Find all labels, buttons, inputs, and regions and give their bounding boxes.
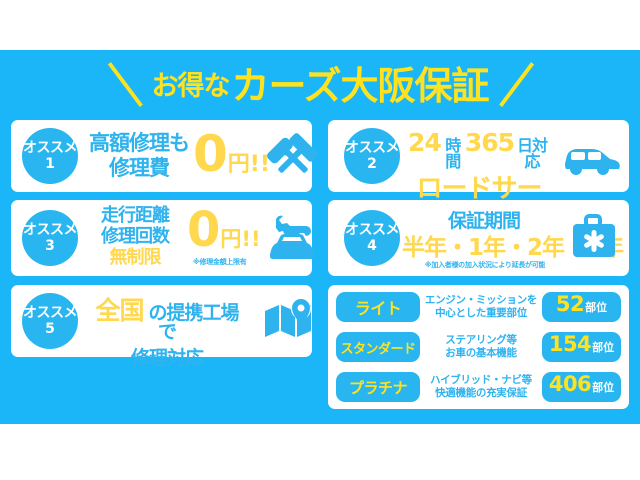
feature-card-2: オススメ 2 24 時間 365 日対応 ロードサービス: [328, 120, 629, 192]
plan-desc-platinum-line2: 快適機能の充実保証: [435, 387, 527, 399]
plan-count-pill-platinum[interactable]: 406 部位: [542, 372, 621, 402]
feature-4-line1: 保証期間: [402, 212, 566, 232]
plan-count-pill-light[interactable]: 52 部位: [542, 292, 621, 322]
feature-card-4: オススメ 4 保証期間 半年・1年・2年・3年 ※加入者様の加入状況により延長が…: [328, 200, 629, 276]
feature-2-days-number: 365: [465, 130, 514, 155]
recommend-badge-4: オススメ 4: [344, 210, 400, 266]
plan-name-pill-platinum[interactable]: プラチナ: [336, 372, 420, 402]
feature-1-line2: 修理費: [85, 157, 193, 179]
badge-label: オススメ: [23, 306, 77, 320]
feature-5-line2: 修理対応: [87, 349, 247, 368]
plan-desc-standard-line1: ステアリング等: [445, 334, 516, 346]
plan-row-standard[interactable]: スタンダード ステアリング等 お車の基本機能 154 部位: [336, 330, 621, 364]
plan-count-unit-light: 部位: [585, 299, 607, 315]
feature-4-text: 保証期間 半年・1年・2年・3年: [402, 212, 566, 260]
plan-table-card: ライト エンジン・ミッションを 中心とした重要部位 52 部位 スタンダード ス…: [328, 285, 629, 409]
badge-number: 3: [45, 239, 55, 253]
plan-desc-light: エンジン・ミッションを 中心とした重要部位: [420, 294, 542, 320]
plan-desc-platinum-line1: ハイブリッド・ナビ等: [430, 374, 532, 386]
feature-3-price-number: 0: [187, 206, 220, 254]
feature-5-nationwide: 全国: [95, 296, 143, 325]
feature-4-line2: 半年・1年・2年・3年: [402, 236, 566, 260]
page-title: ＼ お得な カーズ大阪保証 ／: [0, 58, 640, 114]
badge-number: 4: [367, 239, 377, 253]
feature-2-line1: 24 時間 365 日対応: [408, 130, 550, 170]
plan-desc-platinum: ハイブリッド・ナビ等 快適機能の充実保証: [420, 374, 542, 400]
plan-count-unit-platinum: 部位: [592, 379, 614, 395]
feature-card-3: オススメ 3 走行距離 修理回数 無制限 0 円!! ※修理金額上限有: [11, 200, 312, 276]
badge-label: オススメ: [23, 223, 77, 237]
plan-name-pill-light[interactable]: ライト: [336, 292, 420, 322]
feature-3-line1: 走行距離: [87, 207, 183, 226]
feature-3-price-unit: 円!!: [220, 223, 260, 253]
slash-left-decoration: ＼: [97, 63, 152, 109]
toolbox-asterisk-icon: [568, 210, 620, 268]
feature-1-line1: 高額修理も: [85, 132, 193, 154]
car-side-icon: [558, 136, 620, 182]
recommend-badge-3: オススメ 3: [22, 210, 78, 266]
feature-5-text: 全国 の提携工場で 修理対応: [87, 298, 247, 368]
plan-count-light: 52: [556, 292, 584, 316]
badge-label: オススメ: [345, 141, 399, 155]
feature-3-note: ※修理金額上限有: [193, 257, 246, 267]
plan-count-pill-standard[interactable]: 154 部位: [542, 332, 621, 362]
warranty-poster: ＼ お得な カーズ大阪保証 ／ オススメ 1 高額修理も 修理費 0 円!!: [0, 0, 640, 480]
title-main: カーズ大阪保証: [231, 67, 488, 105]
plan-desc-standard-line2: お車の基本機能: [445, 347, 516, 359]
badge-number: 5: [45, 322, 55, 336]
feature-5-line1: 全国 の提携工場で: [87, 298, 247, 342]
slash-right-decoration: ／: [488, 63, 543, 109]
badge-label: オススメ: [23, 141, 77, 155]
feature-3-text: 走行距離 修理回数 無制限: [87, 207, 183, 268]
badge-number: 1: [45, 157, 55, 171]
crossed-hammers-icon: [264, 133, 322, 187]
badge-number: 2: [367, 157, 377, 171]
feature-2-hours-number: 24: [408, 130, 441, 155]
recommend-badge-2: オススメ 2: [344, 128, 400, 184]
title-prefix: お得な: [151, 73, 229, 100]
feature-2-days-unit: 日対応: [514, 138, 550, 170]
feature-3-line2: 修理回数: [87, 228, 183, 247]
plan-count-unit-standard: 部位: [592, 339, 614, 355]
feature-3-line3: 無制限: [87, 249, 183, 268]
feature-card-1: オススメ 1 高額修理も 修理費 0 円!!: [11, 120, 312, 192]
badge-label: オススメ: [345, 223, 399, 237]
feature-2-hours-unit: 時間: [441, 138, 465, 170]
plan-desc-light-line2: 中心とした重要部位: [435, 307, 527, 319]
recommend-badge-5: オススメ 5: [22, 293, 78, 349]
feature-4-note: ※加入者様の加入状況により延長が可能: [400, 260, 570, 270]
plan-row-platinum[interactable]: プラチナ ハイブリッド・ナビ等 快適機能の充実保証 406 部位: [336, 370, 621, 404]
map-pin-icon: [261, 297, 317, 349]
feature-1-price: 0 円!!: [193, 129, 270, 179]
plan-row-light[interactable]: ライト エンジン・ミッションを 中心とした重要部位 52 部位: [336, 290, 621, 324]
plan-desc-standard: ステアリング等 お車の基本機能: [420, 334, 542, 360]
wrench-car-icon: [264, 210, 320, 272]
plan-count-platinum: 406: [549, 372, 591, 396]
plan-name-pill-standard[interactable]: スタンダード: [336, 332, 420, 362]
plan-desc-light-line1: エンジン・ミッションを: [425, 294, 537, 306]
feature-3-price: 0 円!!: [187, 206, 261, 254]
feature-1-text: 高額修理も 修理費: [85, 132, 193, 179]
feature-card-5: オススメ 5 全国 の提携工場で 修理対応: [11, 285, 312, 357]
recommend-badge-1: オススメ 1: [22, 128, 78, 184]
plan-count-standard: 154: [549, 332, 591, 356]
feature-1-price-number: 0: [193, 129, 228, 179]
feature-5-line1-rest: の提携工場で: [149, 302, 239, 343]
